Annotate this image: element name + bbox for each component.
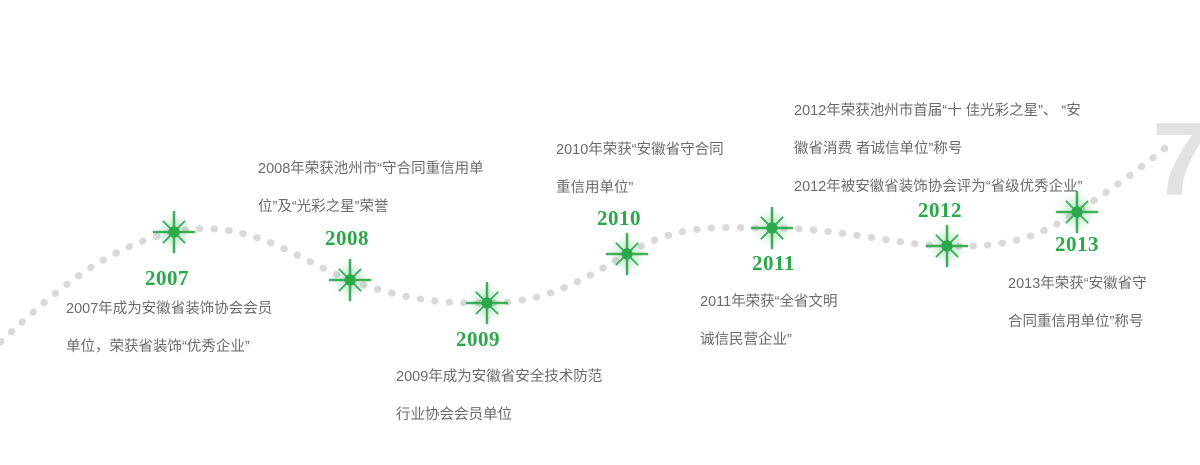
description-line: 2009年成为安徽省安全技术防范	[396, 358, 602, 396]
starburst-icon	[152, 210, 196, 254]
year-label-2010: 2010	[597, 206, 641, 231]
starburst-icon	[465, 281, 509, 325]
milestone-description-2013: 2013年荣获“安徽省守合同重信用单位”称号	[1008, 265, 1147, 341]
year-label-2009: 2009	[456, 327, 500, 352]
starburst-icon	[328, 258, 372, 302]
description-line: 位”及“光彩之星”荣誉	[258, 188, 484, 226]
milestone-description-2011: 2011年荣获“全省文明诚信民营企业”	[700, 283, 838, 359]
year-label-2007: 2007	[145, 266, 189, 291]
milestone-description-2008: 2008年荣获池州市“守合同重信用单位”及“光彩之星”荣誉	[258, 150, 484, 226]
description-line: 徽省消费 者诚信单位”称号	[794, 130, 1082, 168]
starburst-icon	[605, 232, 649, 276]
description-line: 2008年荣获池州市“守合同重信用单	[258, 150, 484, 188]
milestone-description-2010: 2010年荣获“安徽省守合同重信用单位”	[556, 131, 724, 207]
description-line: 行业协会会员单位	[396, 396, 602, 434]
year-label-2008: 2008	[325, 226, 369, 251]
description-line: 2007年成为安徽省装饰协会会员	[66, 290, 272, 328]
description-line: 诚信民营企业”	[700, 321, 838, 359]
year-label-2011: 2011	[752, 251, 795, 276]
description-line: 2013年荣获“安徽省守	[1008, 265, 1147, 303]
starburst-icon	[925, 224, 969, 268]
description-line: 2012年荣获池州市首届“十 佳光彩之星”、 “安	[794, 92, 1082, 130]
description-line: 2012年被安徽省装饰协会评为“省级优秀企业”	[794, 168, 1082, 206]
background-numeral-decoration: 7	[1152, 108, 1200, 212]
milestone-description-2012: 2012年荣获池州市首届“十 佳光彩之星”、 “安徽省消费 者诚信单位”称号20…	[794, 92, 1082, 206]
year-label-2013: 2013	[1055, 232, 1099, 257]
description-line: 2010年荣获“安徽省守合同	[556, 131, 724, 169]
description-line: 合同重信用单位”称号	[1008, 303, 1147, 341]
milestone-description-2007: 2007年成为安徽省装饰协会会员单位，荣获省装饰“优秀企业”	[66, 290, 272, 366]
description-line: 2011年荣获“全省文明	[700, 283, 838, 321]
milestone-description-2009: 2009年成为安徽省安全技术防范行业协会会员单位	[396, 358, 602, 434]
timeline-infographic: 7 20072007年成为安徽省装饰协会会员单位，荣获省装饰“优秀企业”	[0, 0, 1200, 465]
starburst-icon	[750, 206, 794, 250]
starburst-icon	[1055, 190, 1099, 234]
description-line: 重信用单位”	[556, 169, 724, 207]
description-line: 单位，荣获省装饰“优秀企业”	[66, 328, 272, 366]
